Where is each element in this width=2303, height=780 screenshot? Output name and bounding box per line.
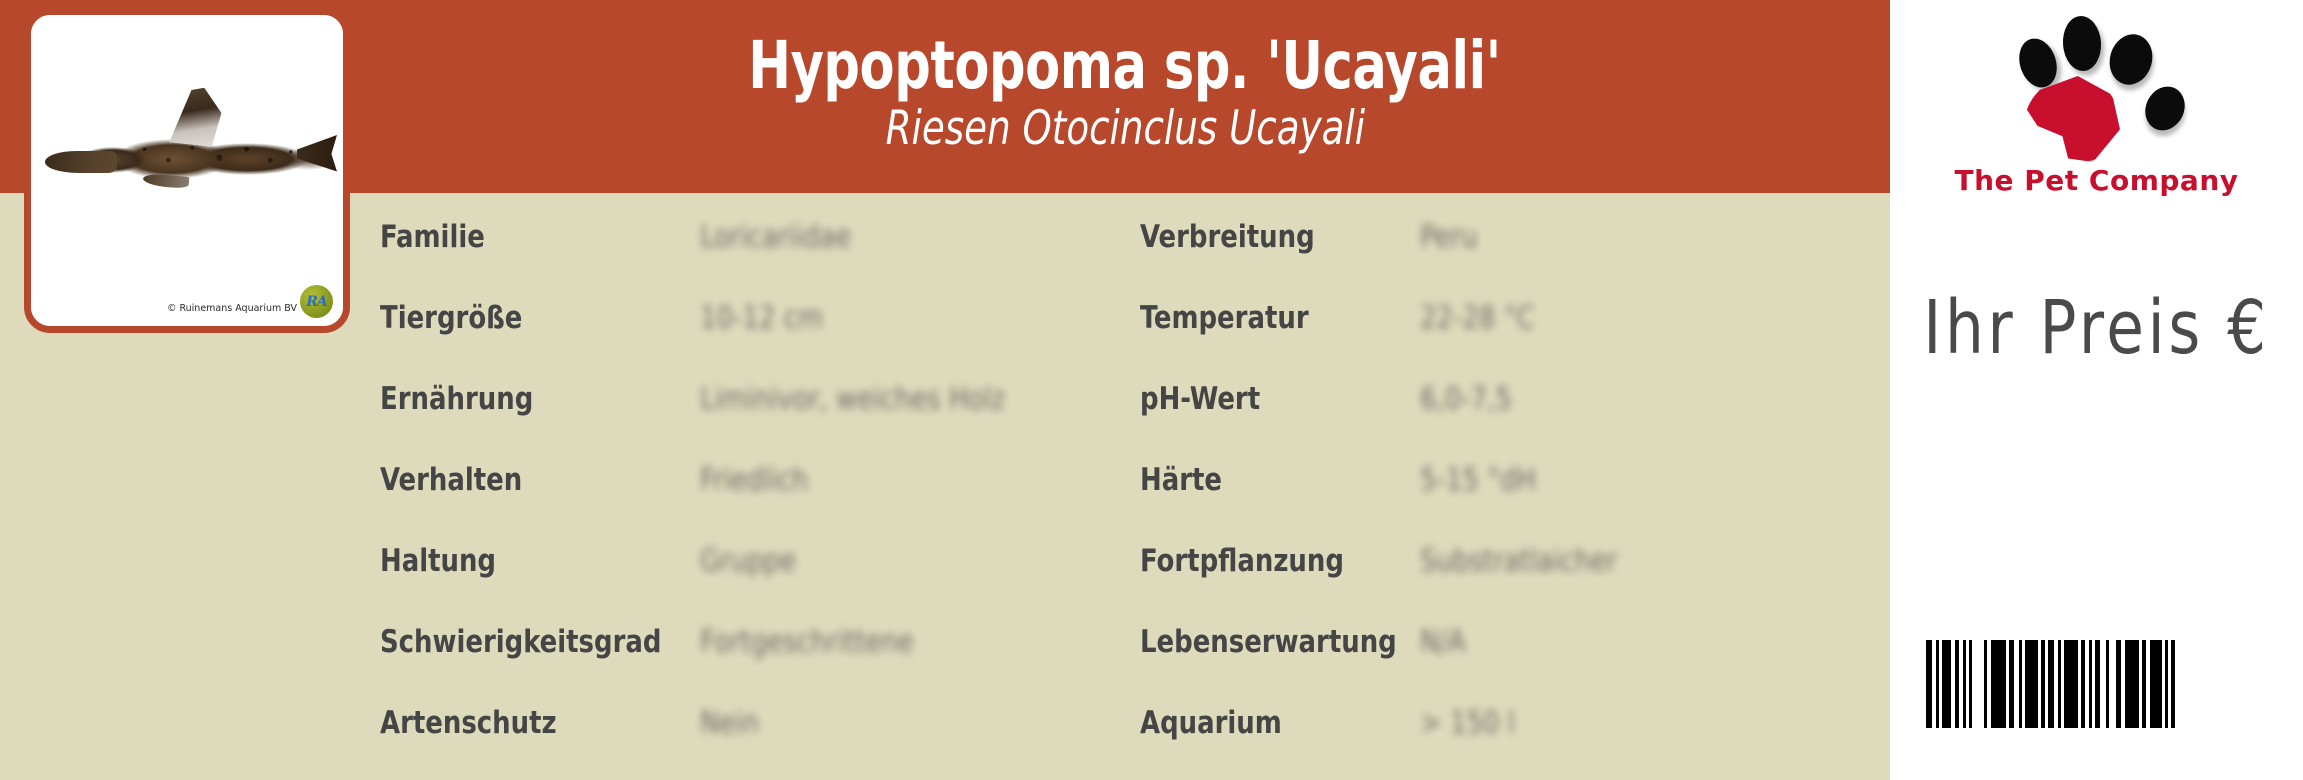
spec-value-ernaehrung: Liminivor, weiches Holz <box>700 358 1109 439</box>
barcode-bar <box>1942 640 1951 728</box>
fish-snout-shape <box>45 151 117 173</box>
barcode-space <box>2109 640 2116 728</box>
spec-value-verhalten: Friedlich <box>700 439 1109 520</box>
spec-label-artenschutz: Artenschutz <box>380 682 678 763</box>
spec-value-artenschutz: Nein <box>700 682 1109 763</box>
barcode <box>1926 640 2266 728</box>
barcode-bar <box>1991 640 2006 728</box>
spec-label-familie: Familie <box>380 196 678 277</box>
right-panel: The Pet Company Ihr Preis € <box>1890 0 2303 780</box>
brand-logo: The Pet Company <box>1890 6 2303 211</box>
fish-pattern-spots <box>131 139 301 173</box>
photo-credit: © Ruinemans Aquarium BV <box>167 303 297 314</box>
spec-label-lebenserwartung: Lebenserwartung <box>1140 601 1400 682</box>
barcode-space <box>1972 640 1984 728</box>
ruinemans-aquarium-logo-icon: RA <box>300 285 333 318</box>
paw-toe-3-icon <box>2104 29 2158 90</box>
spec-value-haltung: Gruppe <box>700 520 1109 601</box>
barcode-bar <box>2064 640 2078 728</box>
page-title: Hypoptopoma sp. 'Ucayali' <box>749 32 1502 101</box>
spec-value-familie: Loricariidae <box>700 196 1109 277</box>
page-subtitle: Riesen Otocinclus Ucayali <box>885 103 1364 155</box>
paw-toe-2-icon <box>2061 15 2103 73</box>
fish-photo-card: © Ruinemans Aquarium BV RA <box>24 8 350 333</box>
barcode-space <box>2175 640 2181 728</box>
paw-pad-icon <box>2024 76 2120 162</box>
spec-label-haerte: Härte <box>1140 439 1400 520</box>
ra-logo-text: RA <box>306 294 327 310</box>
spec-value-schwierigkeitsgrad: Fortgeschrittene <box>700 601 1109 682</box>
spec-label-temperatur: Temperatur <box>1140 277 1400 358</box>
spec-value-aquarium: > 150 l <box>1420 682 1829 763</box>
spec-value-haerte: 5-15 °dH <box>1420 439 1829 520</box>
spec-label-verbreitung: Verbreitung <box>1140 196 1400 277</box>
spec-value-tiergroesse: 10-12 cm <box>700 277 1109 358</box>
paw-toe-4-icon <box>2138 80 2192 137</box>
spec-value-fortpflanzung: Substratlaicher <box>1420 520 1829 601</box>
spec-label-ph-wert: pH-Wert <box>1140 358 1400 439</box>
spec-label-fortpflanzung: Fortpflanzung <box>1140 520 1400 601</box>
spec-label-schwierigkeitsgrad: Schwierigkeitsgrad <box>380 601 678 682</box>
paw-toe-1-icon <box>2013 34 2063 93</box>
barcode-bar <box>2025 640 2038 728</box>
brand-name: The Pet Company <box>1890 164 2303 197</box>
product-label-card: Hypoptopoma sp. 'Ucayali' Riesen Otocinc… <box>0 0 2303 780</box>
spec-label-haltung: Haltung <box>380 520 678 601</box>
spec-value-temperatur: 22-28 °C <box>1420 277 1829 358</box>
spec-label-verhalten: Verhalten <box>380 439 678 520</box>
barcode-bar <box>2125 640 2139 728</box>
title-block: Hypoptopoma sp. 'Ucayali' Riesen Otocinc… <box>360 0 1890 193</box>
barcode-bar <box>2150 640 2162 728</box>
species-spec-table: Familie Loricariidae Verbreitung Peru Ti… <box>380 196 1880 780</box>
spec-label-aquarium: Aquarium <box>1140 682 1400 763</box>
spec-value-lebenserwartung: N/A <box>1420 601 1829 682</box>
spec-label-tiergroesse: Tiergröße <box>380 277 678 358</box>
fish-photo <box>31 15 343 326</box>
spec-value-verbreitung: Peru <box>1420 196 1829 277</box>
paw-print-icon <box>2018 10 2190 150</box>
spec-label-ernaehrung: Ernährung <box>380 358 678 439</box>
spec-value-ph-wert: 6,0-7,5 <box>1420 358 1829 439</box>
main-panel: Hypoptopoma sp. 'Ucayali' Riesen Otocinc… <box>0 0 1890 780</box>
price-label: Ihr Preis € <box>1907 285 2287 371</box>
